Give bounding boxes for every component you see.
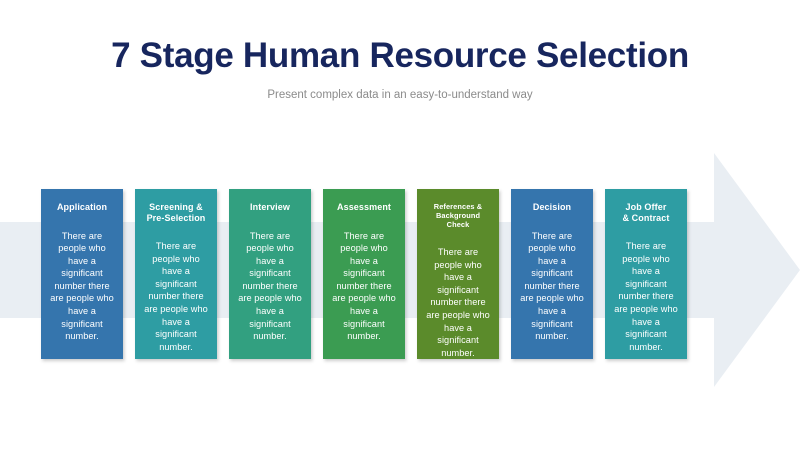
stage-title: References & Background Check bbox=[424, 202, 492, 229]
stage-card-interview[interactable]: Interview There are people who have a si… bbox=[229, 189, 311, 359]
stage-title: Application bbox=[57, 202, 107, 213]
stage-title: Decision bbox=[533, 202, 571, 213]
stage-card-screening-pre-selection[interactable]: Screening & Pre-Selection There are peop… bbox=[135, 189, 217, 359]
slide-canvas: 7 Stage Human Resource Selection Present… bbox=[0, 0, 800, 450]
page-subtitle: Present complex data in an easy-to-under… bbox=[0, 88, 800, 102]
stage-title: Assessment bbox=[337, 202, 391, 213]
stage-body: There are people who have a significant … bbox=[612, 240, 680, 353]
stage-body: There are people who have a significant … bbox=[142, 240, 210, 353]
heading-block: 7 Stage Human Resource Selection Present… bbox=[0, 34, 800, 102]
stage-body: There are people who have a significant … bbox=[48, 230, 116, 343]
stage-card-application[interactable]: Application There are people who have a … bbox=[41, 189, 123, 359]
stage-title: Job Offer & Contract bbox=[622, 202, 669, 223]
stage-title: Screening & Pre-Selection bbox=[147, 202, 206, 223]
stage-card-references-background-check[interactable]: References & Background Check There are … bbox=[417, 189, 499, 359]
stage-card-job-offer-contract[interactable]: Job Offer & Contract There are people wh… bbox=[605, 189, 687, 359]
stage-title: Interview bbox=[250, 202, 290, 213]
stage-body: There are people who have a significant … bbox=[518, 230, 586, 343]
page-title: 7 Stage Human Resource Selection bbox=[0, 34, 800, 78]
stage-list: Application There are people who have a … bbox=[41, 189, 759, 359]
stage-body: There are people who have a significant … bbox=[236, 230, 304, 343]
stage-card-decision[interactable]: Decision There are people who have a sig… bbox=[511, 189, 593, 359]
stage-body: There are people who have a significant … bbox=[424, 246, 492, 359]
stage-body: There are people who have a significant … bbox=[330, 230, 398, 343]
stage-card-assessment[interactable]: Assessment There are people who have a s… bbox=[323, 189, 405, 359]
